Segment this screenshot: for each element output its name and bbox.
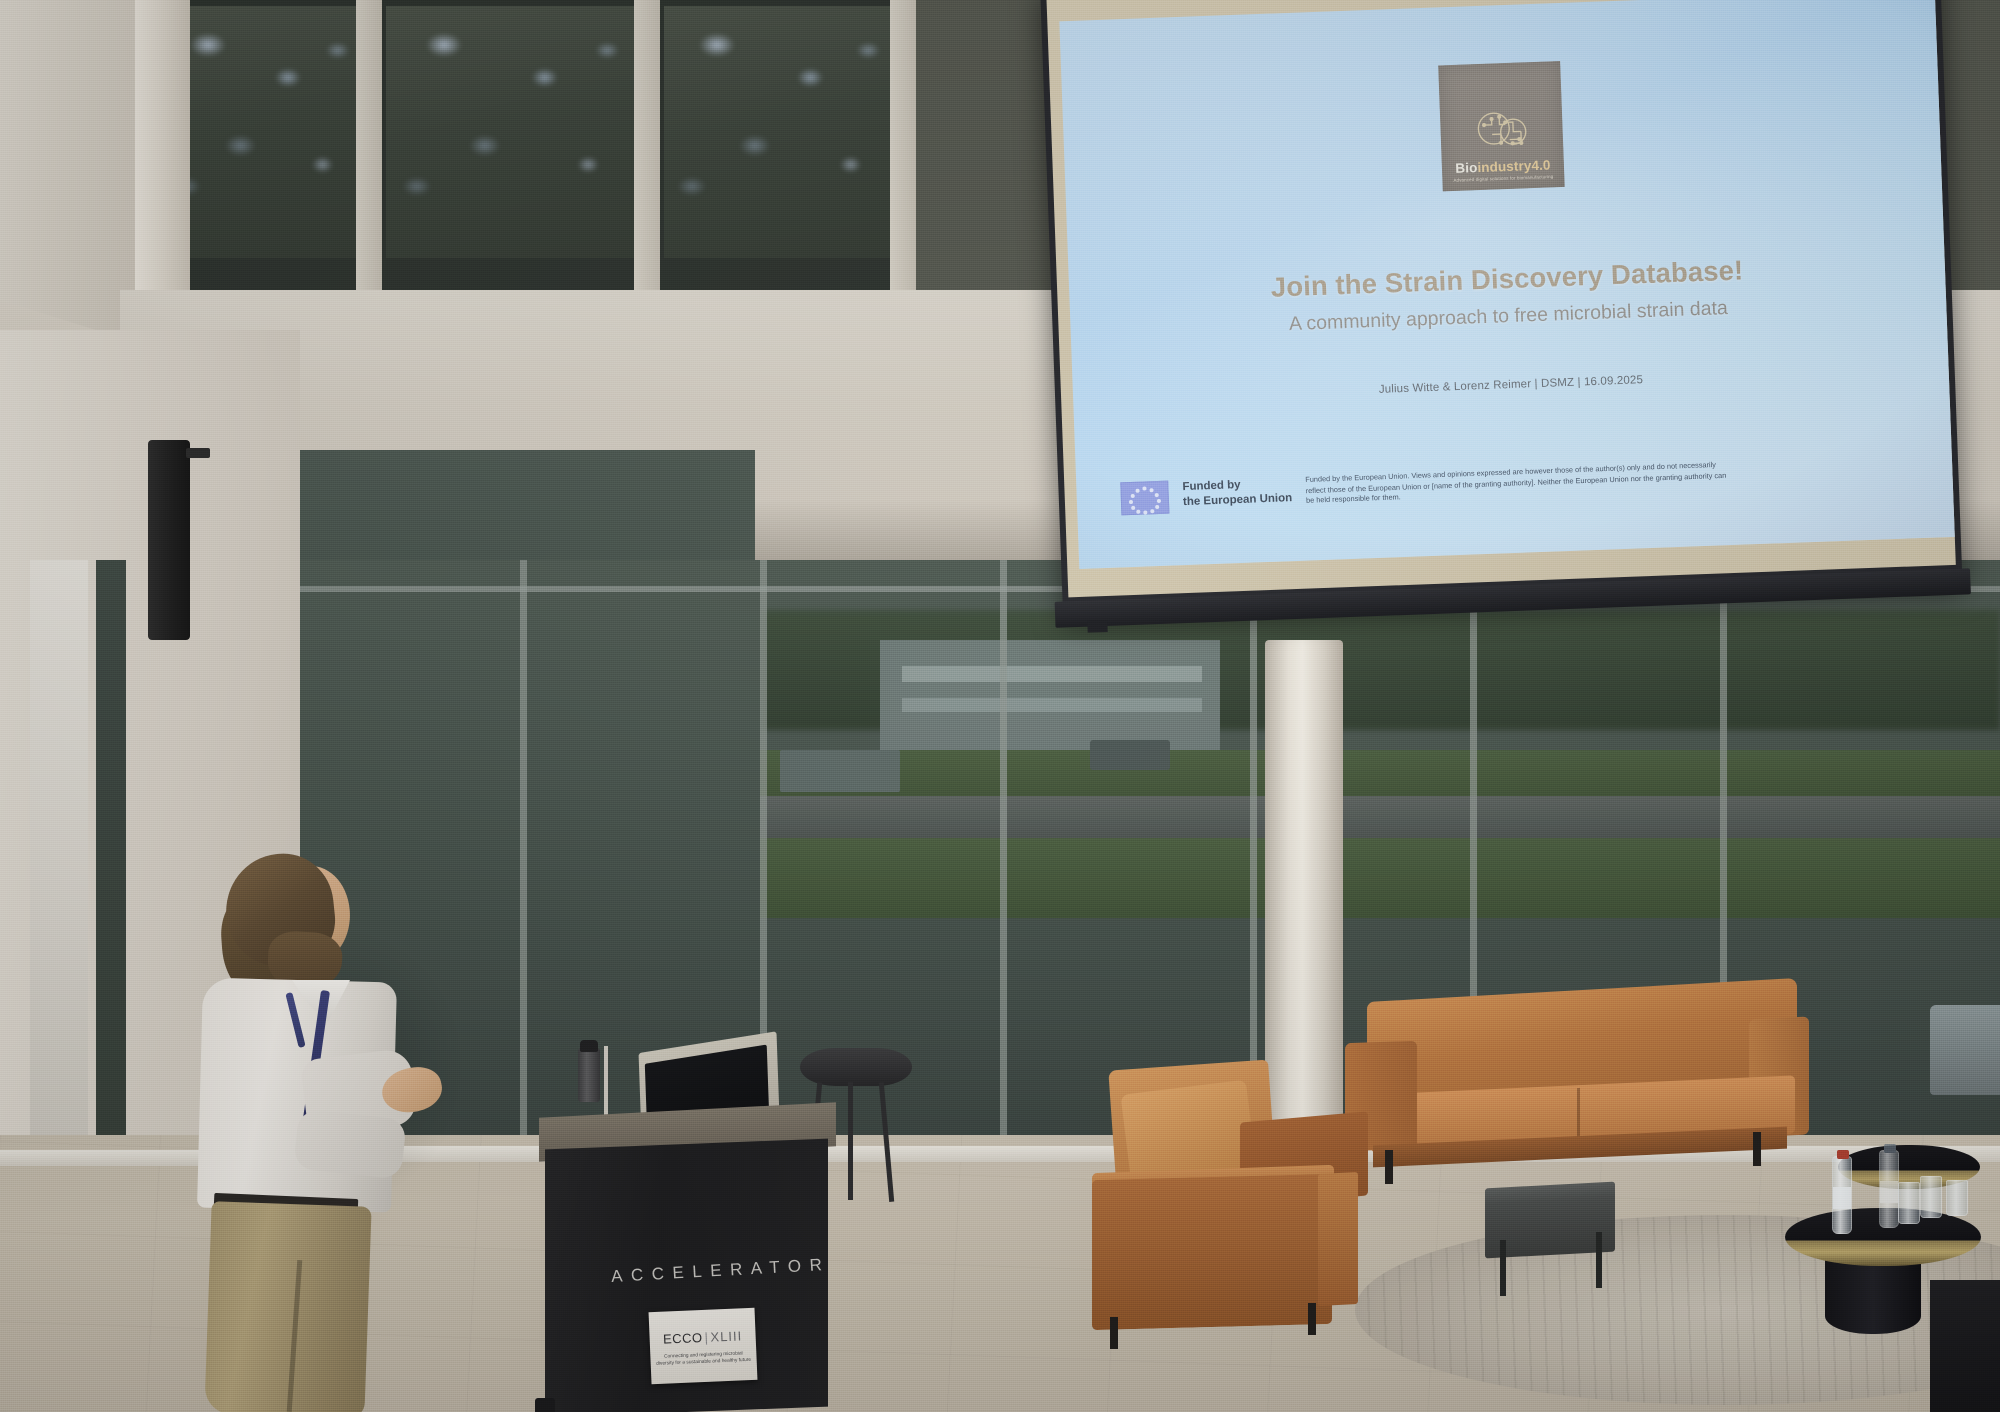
armchair-leg	[1110, 1317, 1118, 1349]
side-table-leg	[1500, 1240, 1506, 1296]
armchair-arm-front	[1092, 1174, 1332, 1330]
stool-leg	[848, 1082, 853, 1200]
far-side-chair[interactable]	[1930, 1005, 2000, 1095]
left-wall-return	[30, 560, 88, 1160]
eu-disclaimer-text: Funded by the European Union. Views and …	[1305, 460, 1735, 508]
tree-foliage	[664, 6, 896, 258]
armchair-leg	[1308, 1303, 1316, 1335]
projection-screen: Bioindustry4.0 Advanced digital solution…	[1040, 0, 2000, 631]
outdoor-kiosk	[780, 750, 900, 792]
eu-funding-label: Funded by the European Union	[1182, 476, 1292, 509]
bottle-cap	[1884, 1144, 1896, 1153]
window-mullion	[356, 0, 382, 292]
velvet-armchair[interactable]	[1090, 1065, 1380, 1345]
lectern-event-sign: ECCO|XLIII Connecting and registering mi…	[649, 1308, 758, 1384]
side-table-leg	[1596, 1232, 1602, 1288]
tree-foliage	[386, 6, 638, 258]
bottle-label	[1833, 1187, 1851, 1209]
speaker-bracket	[186, 448, 210, 458]
event-sign-subline: Connecting and registering microbial div…	[655, 1350, 753, 1369]
glazing-mullion	[520, 560, 527, 1160]
sofa-leg	[1753, 1132, 1761, 1166]
event-sign-title: ECCO|XLIII	[663, 1328, 743, 1346]
corner-plinth	[1930, 1280, 2000, 1412]
bioindustry-logo: Bioindustry4.0 Advanced digital solution…	[1438, 61, 1565, 191]
window-mullion	[890, 0, 916, 292]
upper-window-row	[150, 0, 910, 290]
presentation-room-photo: Bioindustry4.0 Advanced digital solution…	[0, 0, 2000, 1412]
logo-word-industry: industry4.0	[1477, 157, 1551, 175]
eu-funding-row: Funded by the European Union Funded by t…	[1120, 453, 1925, 515]
sofa-cushion-seam	[1577, 1088, 1580, 1140]
outdoor-car	[1090, 740, 1170, 770]
tree-foliage	[164, 6, 360, 258]
sofa-leg	[1385, 1150, 1393, 1184]
logo-word-bio: Bio	[1455, 160, 1478, 176]
slide-byline: Julius Witte & Lorenz Reimer | DSMZ | 16…	[1073, 363, 1949, 407]
outdoor-path	[760, 796, 2000, 844]
outdoor-lawn	[760, 838, 2000, 918]
logo-tagline: Advanced digital solutions for biomanufa…	[1453, 174, 1553, 183]
window-mullion	[634, 0, 660, 292]
circuit-network-icon	[1470, 104, 1534, 158]
drinking-glass[interactable]	[1946, 1180, 1968, 1216]
event-sign-separator: |	[704, 1329, 709, 1344]
lectern-foot	[535, 1398, 555, 1412]
screen-rail-clip	[1087, 620, 1107, 633]
water-bottle[interactable]	[1879, 1150, 1899, 1228]
water-bottle[interactable]	[1832, 1156, 1852, 1234]
window-pane	[664, 6, 896, 258]
bottle-cap	[1837, 1150, 1849, 1159]
lectern: ACCELERATOR ECCO|XLIII Connecting and re…	[545, 1110, 830, 1412]
presenter	[200, 840, 460, 1412]
glazing-mullion	[1000, 560, 1007, 1160]
logo-wordmark: Bioindustry4.0	[1455, 158, 1551, 175]
armchair-side-panel	[1318, 1172, 1358, 1306]
bar-stool-seat[interactable]	[800, 1048, 912, 1086]
building-window-band	[902, 666, 1202, 682]
drinking-glass[interactable]	[1920, 1176, 1942, 1218]
screen-frame: Bioindustry4.0 Advanced digital solution…	[1040, 0, 1962, 616]
presentation-slide: Bioindustry4.0 Advanced digital solution…	[1059, 0, 1954, 569]
eu-flag-icon	[1120, 481, 1169, 516]
eu-star-ring	[1121, 482, 1168, 515]
left-window-slit	[96, 560, 126, 1160]
lectern-water-bottle[interactable]	[578, 1048, 600, 1102]
screen-surface: Bioindustry4.0 Advanced digital solution…	[1046, 0, 1955, 597]
bottle-cap	[580, 1040, 598, 1052]
drinking-glass[interactable]	[1898, 1182, 1920, 1224]
bottle-label	[1880, 1181, 1898, 1203]
upper-pillar	[135, 0, 190, 300]
event-sign-org: ECCO	[663, 1330, 703, 1347]
round-table-base	[1825, 1256, 1921, 1334]
building-window-band	[902, 698, 1202, 712]
window-pane	[164, 6, 360, 258]
window-pane	[386, 6, 638, 258]
event-sign-edition: XLIII	[710, 1328, 742, 1344]
presenter-forearm	[293, 1109, 407, 1180]
velvet-sofa[interactable]	[1345, 990, 1805, 1205]
wall-speaker	[148, 440, 190, 640]
